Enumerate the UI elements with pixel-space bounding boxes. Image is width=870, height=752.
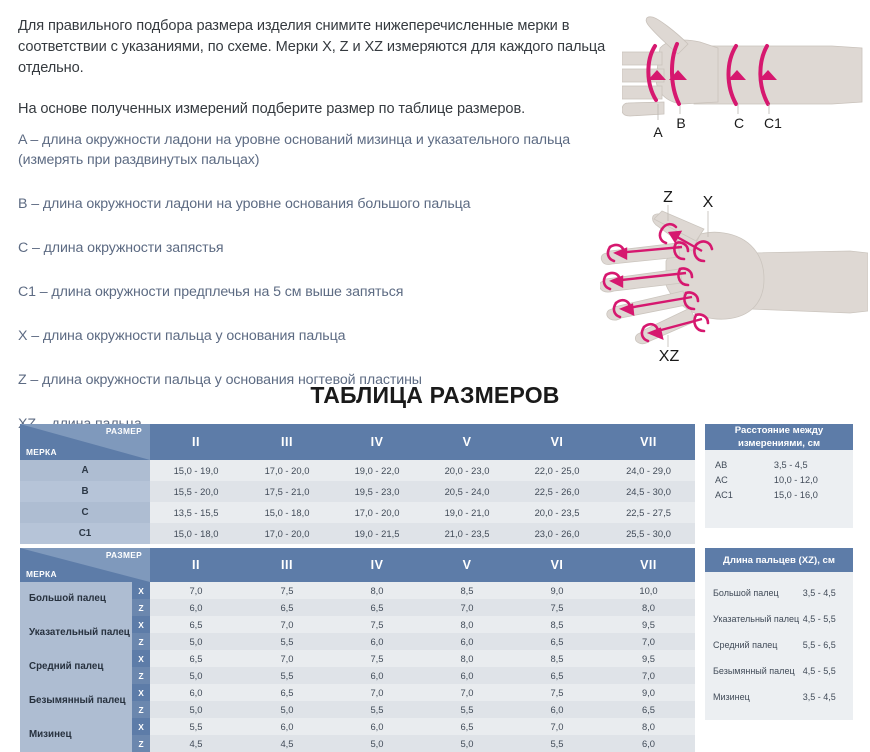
tag-x-pinky: X <box>132 718 150 735</box>
distance-value-ac1: 15,0 - 16,0 <box>774 488 843 503</box>
column-header-iv: IV <box>332 548 422 582</box>
corner-header-cell: РАЗМЕР МЕРКА <box>20 424 150 460</box>
column-header-ii: II <box>150 424 242 460</box>
tag-x-ring: X <box>132 684 150 701</box>
definition-item-a: A – длина окружности ладони на уровне ос… <box>18 130 623 170</box>
cell-c-vi: 20,0 - 23,5 <box>512 502 602 523</box>
hand-diagram-xz-icon: Z X XZ <box>600 185 868 363</box>
cell-pinky-z-vii: 6,0 <box>602 735 695 752</box>
finger-length-key-pinky: Мизинец <box>713 690 803 704</box>
distance-value-ac: 10,0 - 12,0 <box>774 473 843 488</box>
cell-c1-vi: 23,0 - 26,0 <box>512 523 602 544</box>
cell-c1-vii: 25,5 - 30,0 <box>602 523 695 544</box>
cell-thumb-z-ii: 6,0 <box>150 599 242 616</box>
distance-panel-title: Расстояние между измерениями, см <box>705 424 853 450</box>
finger-length-value-middle: 5,5 - 6,5 <box>803 638 845 652</box>
cell-index-z-iv: 6,0 <box>332 633 422 650</box>
cell-ring-x-v: 7,0 <box>422 684 512 701</box>
cell-index-z-vi: 6,5 <box>512 633 602 650</box>
row-label-c1: C1 <box>20 523 150 544</box>
column-header-v: V <box>422 548 512 582</box>
hand-diagram-abc-icon: A B C C1 <box>622 4 868 144</box>
cell-middle-x-ii: 6,5 <box>150 650 242 667</box>
cell-index-x-vi: 8,5 <box>512 616 602 633</box>
table-row: Безымянный палец X 6,0 6,5 7,0 7,0 7,5 9… <box>20 684 695 701</box>
cell-thumb-x-iv: 8,0 <box>332 582 422 599</box>
distance-panel-body: AB 3,5 - 4,5 AC 10,0 - 12,0 AC1 15,0 - 1… <box>705 450 853 509</box>
cell-pinky-z-iii: 4,5 <box>242 735 332 752</box>
finger-size-table: РАЗМЕР МЕРКА II III IV V VI VII Большой … <box>20 548 695 752</box>
cell-middle-x-iii: 7,0 <box>242 650 332 667</box>
cell-pinky-x-iii: 6,0 <box>242 718 332 735</box>
cell-b-vi: 22,5 - 26,0 <box>512 481 602 502</box>
table-header-row: РАЗМЕР МЕРКА II III IV V VI VII <box>20 424 695 460</box>
diagram-label-b: B <box>676 115 685 131</box>
cell-index-z-iii: 5,5 <box>242 633 332 650</box>
cell-b-iv: 19,5 - 23,0 <box>332 481 422 502</box>
tag-z-index: Z <box>132 633 150 650</box>
table-row: C 13,5 - 15,5 15,0 - 18,0 17,0 - 20,0 19… <box>20 502 695 523</box>
cell-c-ii: 13,5 - 15,5 <box>150 502 242 523</box>
row-label-thumb: Большой палец <box>20 582 132 616</box>
size-table: РАЗМЕР МЕРКА II III IV V VI VII A 15,0 -… <box>20 424 695 544</box>
finger-length-value-ring: 4,5 - 5,5 <box>803 664 845 678</box>
cell-middle-x-vii: 9,5 <box>602 650 695 667</box>
cell-middle-x-iv: 7,5 <box>332 650 422 667</box>
cell-a-vii: 24,0 - 29,0 <box>602 460 695 481</box>
column-header-iv: IV <box>332 424 422 460</box>
cell-index-x-v: 8,0 <box>422 616 512 633</box>
cell-c1-iii: 17,0 - 20,0 <box>242 523 332 544</box>
diagram-label-x: X <box>703 194 714 211</box>
cell-thumb-z-iv: 6,5 <box>332 599 422 616</box>
row-label-ring: Безымянный палец <box>20 684 132 718</box>
cell-ring-z-v: 5,5 <box>422 701 512 718</box>
finger-length-row-index: Указательный палец 4,5 - 5,5 <box>713 612 845 626</box>
cell-thumb-z-v: 7,0 <box>422 599 512 616</box>
table-header-row: РАЗМЕР МЕРКА II III IV V VI VII <box>20 548 695 582</box>
cell-a-vi: 22,0 - 25,0 <box>512 460 602 481</box>
finger-length-row-thumb: Большой палец 3,5 - 4,5 <box>713 586 845 600</box>
column-header-vii: VII <box>602 424 695 460</box>
distance-key-ac1: AC1 <box>715 488 774 503</box>
distance-key-ac: AC <box>715 473 774 488</box>
corner-label-measure: МЕРКА <box>26 569 57 579</box>
cell-ring-x-iii: 6,5 <box>242 684 332 701</box>
definition-item-b: B – длина окружности ладони на уровне ос… <box>18 194 623 214</box>
cell-index-x-iv: 7,5 <box>332 616 422 633</box>
cell-a-v: 20,0 - 23,0 <box>422 460 512 481</box>
cell-pinky-z-v: 5,0 <box>422 735 512 752</box>
tag-z-middle: Z <box>132 667 150 684</box>
cell-middle-z-iv: 6,0 <box>332 667 422 684</box>
cell-thumb-z-vi: 7,5 <box>512 599 602 616</box>
distance-panel: Расстояние между измерениями, см AB 3,5 … <box>705 424 853 528</box>
column-header-v: V <box>422 424 512 460</box>
finger-length-key-ring: Безымянный палец <box>713 664 803 678</box>
row-label-b: B <box>20 481 150 502</box>
cell-ring-x-ii: 6,0 <box>150 684 242 701</box>
finger-length-value-index: 4,5 - 5,5 <box>803 612 845 626</box>
cell-c-iii: 15,0 - 18,0 <box>242 502 332 523</box>
table-row: C1 15,0 - 18,0 17,0 - 20,0 19,0 - 21,5 2… <box>20 523 695 544</box>
row-label-a: A <box>20 460 150 481</box>
table-row: Средний палец X 6,5 7,0 7,5 8,0 8,5 9,5 <box>20 650 695 667</box>
cell-c-v: 19,0 - 21,0 <box>422 502 512 523</box>
cell-middle-z-v: 6,0 <box>422 667 512 684</box>
finger-length-value-pinky: 3,5 - 4,5 <box>803 690 845 704</box>
cell-middle-z-iii: 5,5 <box>242 667 332 684</box>
cell-index-z-v: 6,0 <box>422 633 512 650</box>
definition-item-c1: C1 – длина окружности предплечья на 5 см… <box>18 282 623 302</box>
cell-pinky-x-vii: 8,0 <box>602 718 695 735</box>
tag-x-thumb: X <box>132 582 150 599</box>
intro-text-block: Для правильного подбора размера изделия … <box>18 16 618 140</box>
diagram-label-c1: C1 <box>764 115 782 131</box>
cell-pinky-x-ii: 5,5 <box>150 718 242 735</box>
tag-z-ring: Z <box>132 701 150 718</box>
diagram-label-a: A <box>653 124 663 140</box>
cell-thumb-z-vii: 8,0 <box>602 599 695 616</box>
finger-length-panel-title: Длина пальцев (XZ), см <box>705 548 853 572</box>
cell-c-iv: 17,0 - 20,0 <box>332 502 422 523</box>
intro-paragraph-2: На основе полученных измерений подберите… <box>18 99 618 120</box>
cell-a-iv: 19,0 - 22,0 <box>332 460 422 481</box>
cell-a-iii: 17,0 - 20,0 <box>242 460 332 481</box>
finger-length-key-index: Указательный палец <box>713 612 803 626</box>
cell-middle-x-vi: 8,5 <box>512 650 602 667</box>
corner-label-size: РАЗМЕР <box>106 550 142 560</box>
finger-length-panel: Длина пальцев (XZ), см Большой палец 3,5… <box>705 548 853 720</box>
corner-header-cell: РАЗМЕР МЕРКА <box>20 548 150 582</box>
column-header-vi: VI <box>512 424 602 460</box>
cell-pinky-z-vi: 5,5 <box>512 735 602 752</box>
cell-b-v: 20,5 - 24,0 <box>422 481 512 502</box>
cell-pinky-x-iv: 6,0 <box>332 718 422 735</box>
cell-c1-v: 21,0 - 23,5 <box>422 523 512 544</box>
cell-ring-x-iv: 7,0 <box>332 684 422 701</box>
finger-length-key-middle: Средний палец <box>713 638 803 652</box>
table-row: B 15,5 - 20,0 17,5 - 21,0 19,5 - 23,0 20… <box>20 481 695 502</box>
cell-ring-x-vii: 9,0 <box>602 684 695 701</box>
cell-ring-z-vi: 6,0 <box>512 701 602 718</box>
definition-item-c: C – длина окружности запястья <box>18 238 623 258</box>
cell-index-x-iii: 7,0 <box>242 616 332 633</box>
cell-ring-z-iii: 5,0 <box>242 701 332 718</box>
table-row: A 15,0 - 19,0 17,0 - 20,0 19,0 - 22,0 20… <box>20 460 695 481</box>
cell-index-z-ii: 5,0 <box>150 633 242 650</box>
cell-ring-z-iv: 5,5 <box>332 701 422 718</box>
cell-thumb-x-iii: 7,5 <box>242 582 332 599</box>
cell-pinky-z-iv: 5,0 <box>332 735 422 752</box>
cell-pinky-x-v: 6,5 <box>422 718 512 735</box>
diagram-label-c: C <box>734 115 744 131</box>
cell-index-x-vii: 9,5 <box>602 616 695 633</box>
tag-z-pinky: Z <box>132 735 150 752</box>
finger-length-row-ring: Безымянный палец 4,5 - 5,5 <box>713 664 845 678</box>
cell-thumb-x-vi: 9,0 <box>512 582 602 599</box>
tag-x-middle: X <box>132 650 150 667</box>
cell-a-ii: 15,0 - 19,0 <box>150 460 242 481</box>
cell-middle-z-ii: 5,0 <box>150 667 242 684</box>
cell-thumb-z-iii: 6,5 <box>242 599 332 616</box>
table-row: Большой палец X 7,0 7,5 8,0 8,5 9,0 10,0 <box>20 582 695 599</box>
cell-thumb-x-v: 8,5 <box>422 582 512 599</box>
cell-c1-iv: 19,0 - 21,5 <box>332 523 422 544</box>
column-header-vii: VII <box>602 548 695 582</box>
row-label-c: C <box>20 502 150 523</box>
finger-length-panel-body: Большой палец 3,5 - 4,5 Указательный пал… <box>705 572 853 722</box>
column-header-vi: VI <box>512 548 602 582</box>
page-title: ТАБЛИЦА РАЗМЕРОВ <box>0 382 870 409</box>
finger-length-value-thumb: 3,5 - 4,5 <box>803 586 845 600</box>
distance-key-ab: AB <box>715 458 774 473</box>
cell-thumb-x-vii: 10,0 <box>602 582 695 599</box>
cell-pinky-z-ii: 4,5 <box>150 735 242 752</box>
cell-middle-x-v: 8,0 <box>422 650 512 667</box>
cell-ring-z-vii: 6,5 <box>602 701 695 718</box>
distance-row-ac1: AC1 15,0 - 16,0 <box>715 488 843 503</box>
cell-b-ii: 15,5 - 20,0 <box>150 481 242 502</box>
cell-b-vii: 24,5 - 30,0 <box>602 481 695 502</box>
cell-index-z-vii: 7,0 <box>602 633 695 650</box>
column-header-ii: II <box>150 548 242 582</box>
cell-c1-ii: 15,0 - 18,0 <box>150 523 242 544</box>
column-header-iii: III <box>242 424 332 460</box>
corner-label-size: РАЗМЕР <box>106 426 142 436</box>
cell-middle-z-vi: 6,5 <box>512 667 602 684</box>
tag-z-thumb: Z <box>132 599 150 616</box>
cell-pinky-x-vi: 7,0 <box>512 718 602 735</box>
finger-length-row-pinky: Мизинец 3,5 - 4,5 <box>713 690 845 704</box>
distance-value-ab: 3,5 - 4,5 <box>774 458 843 473</box>
column-header-iii: III <box>242 548 332 582</box>
distance-row-ab: AB 3,5 - 4,5 <box>715 458 843 473</box>
definition-item-x: X – длина окружности пальца у основания … <box>18 326 623 346</box>
cell-thumb-x-ii: 7,0 <box>150 582 242 599</box>
finger-length-row-middle: Средний палец 5,5 - 6,5 <box>713 638 845 652</box>
table-row: Мизинец X 5,5 6,0 6,0 6,5 7,0 8,0 <box>20 718 695 735</box>
distance-row-ac: AC 10,0 - 12,0 <box>715 473 843 488</box>
intro-paragraph-1: Для правильного подбора размера изделия … <box>18 16 618 79</box>
cell-b-iii: 17,5 - 21,0 <box>242 481 332 502</box>
table-row: Указательный палец X 6,5 7,0 7,5 8,0 8,5… <box>20 616 695 633</box>
diagram-label-z: Z <box>663 189 673 206</box>
cell-index-x-ii: 6,5 <box>150 616 242 633</box>
diagram-label-xz: XZ <box>659 348 680 363</box>
cell-middle-z-vii: 7,0 <box>602 667 695 684</box>
cell-ring-x-vi: 7,5 <box>512 684 602 701</box>
row-label-pinky: Мизинец <box>20 718 132 752</box>
finger-length-key-thumb: Большой палец <box>713 586 803 600</box>
corner-label-measure: МЕРКА <box>26 447 57 457</box>
cell-ring-z-ii: 5,0 <box>150 701 242 718</box>
cell-c-vii: 22,5 - 27,5 <box>602 502 695 523</box>
tag-x-index: X <box>132 616 150 633</box>
row-label-middle: Средний палец <box>20 650 132 684</box>
row-label-index: Указательный палец <box>20 616 132 650</box>
